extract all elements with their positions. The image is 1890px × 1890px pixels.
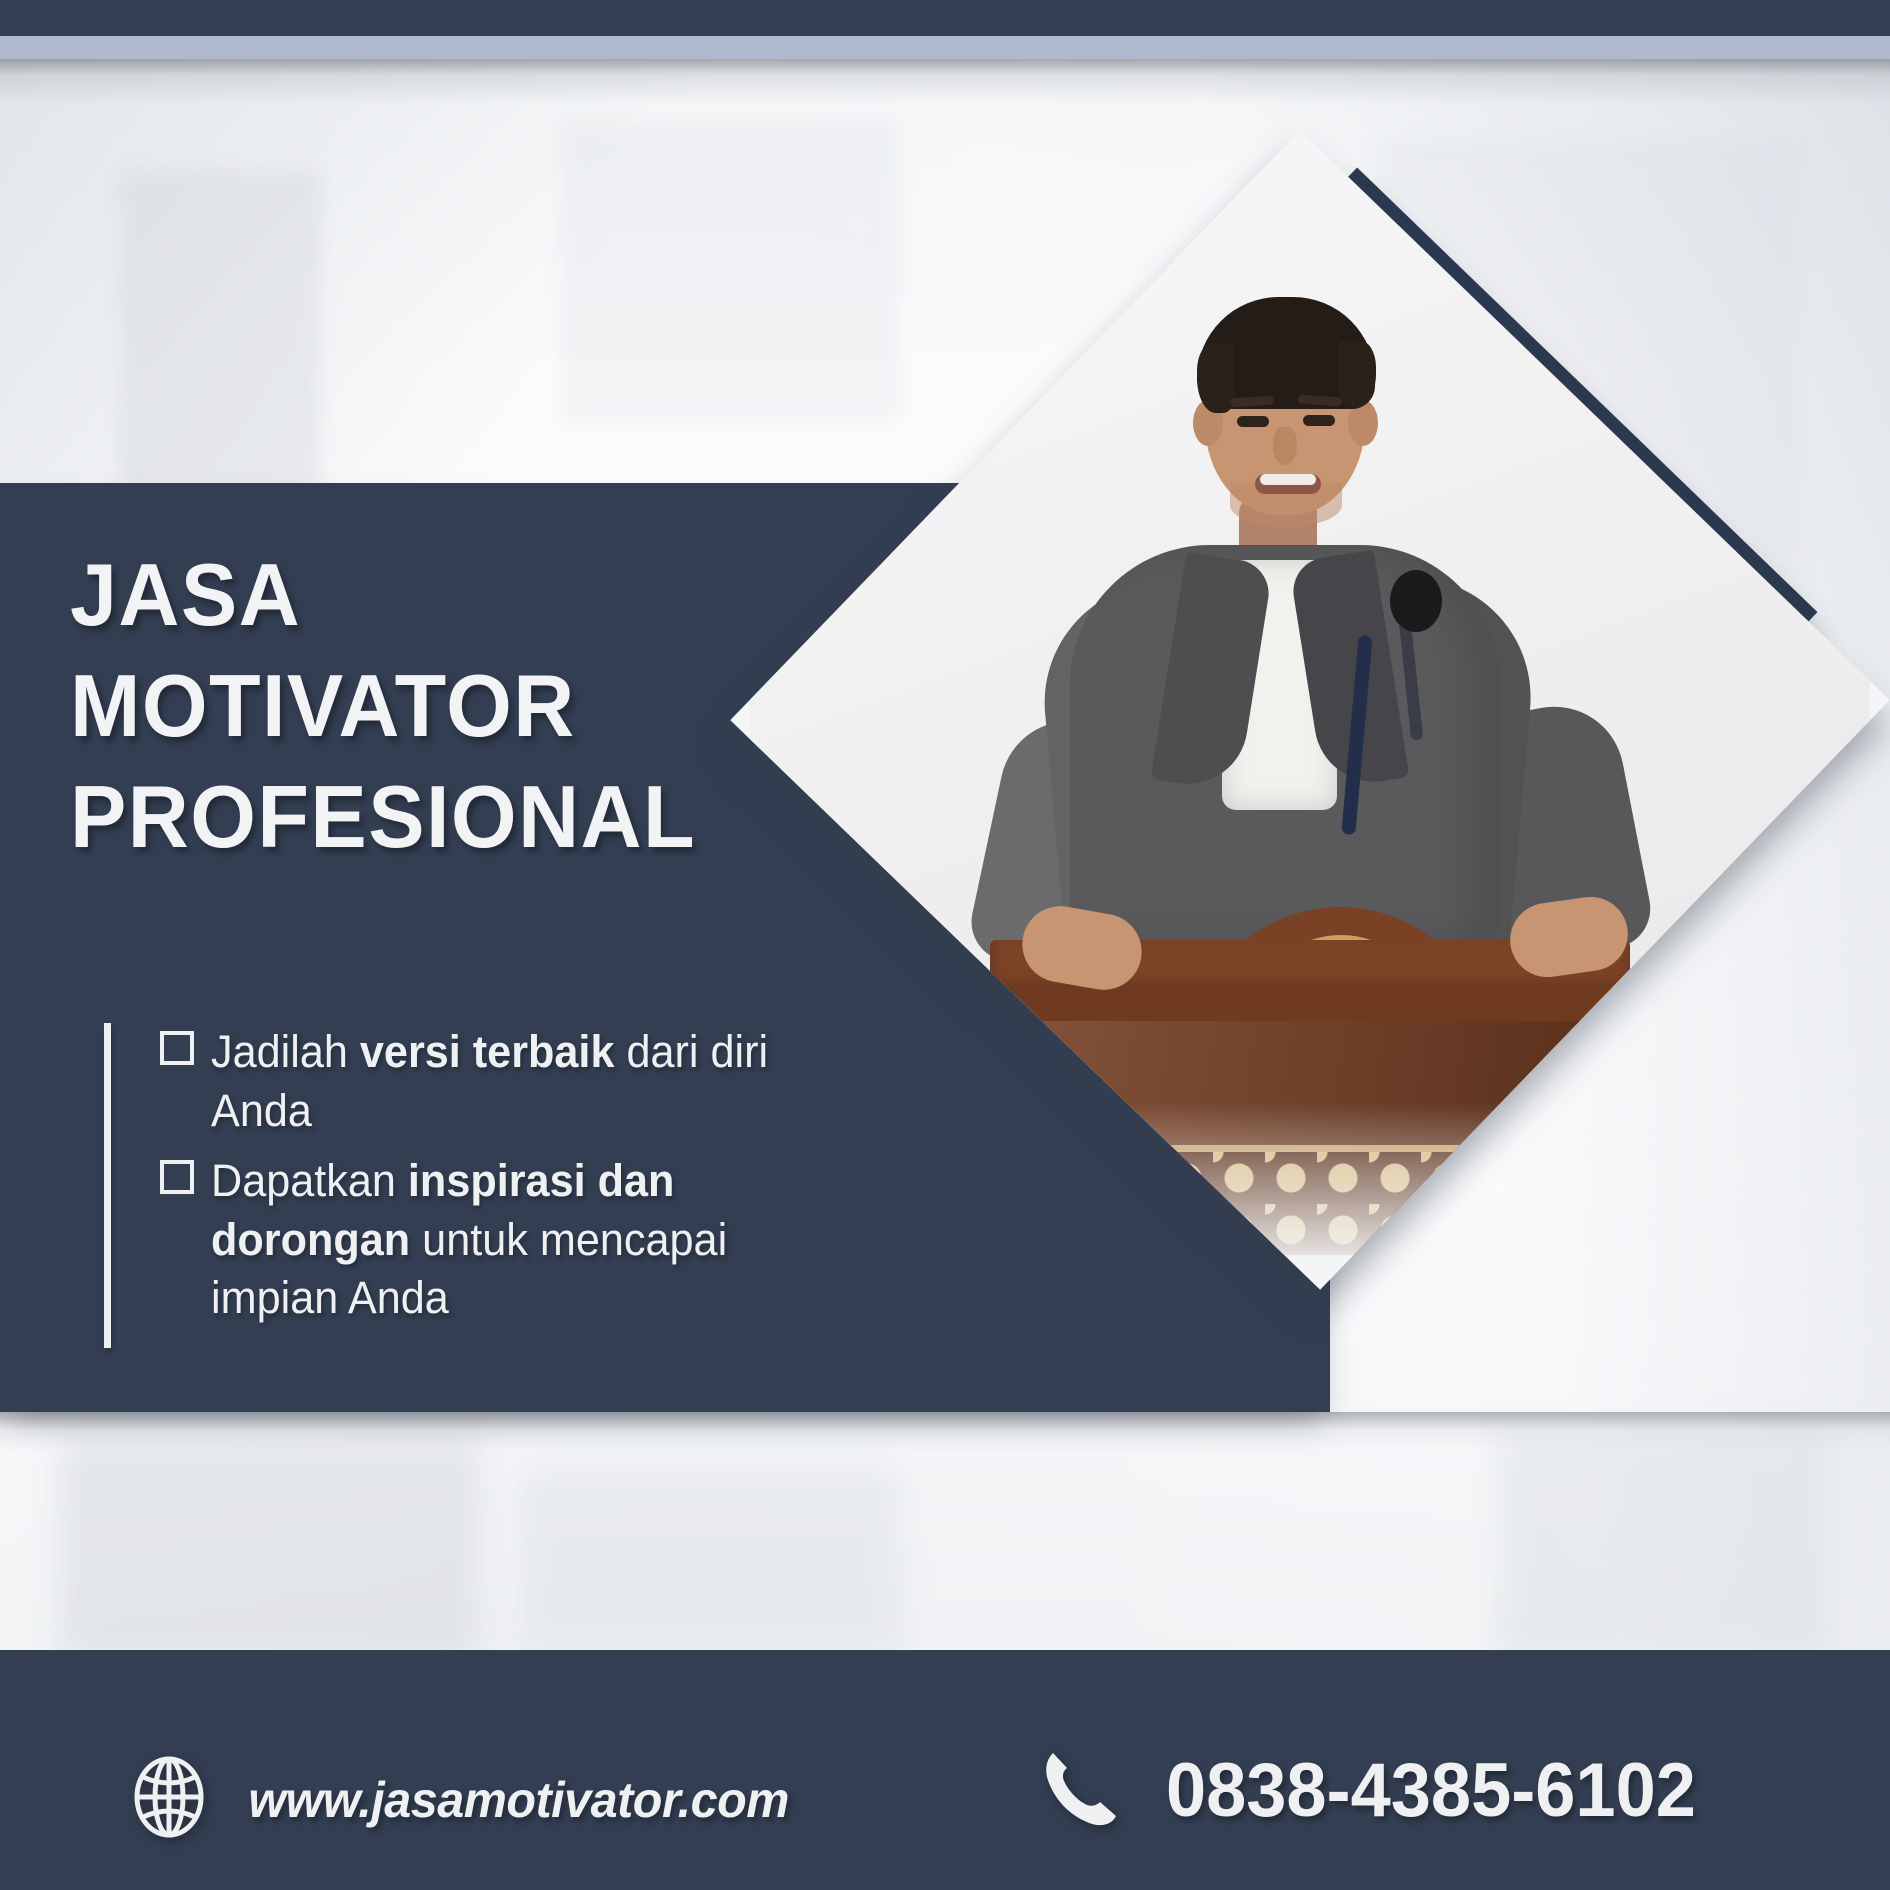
benefit-text-2: Dapatkan inspirasi dan dorongan untuk me… <box>211 1152 831 1328</box>
benefit-1-part-a: Jadilah <box>211 1026 360 1077</box>
headline-line-1: JASA <box>70 540 953 651</box>
flyer-canvas: JASA MOTIVATOR PROFESIONAL Jadilah versi… <box>0 0 1890 1890</box>
background-soft-blur <box>1500 1430 1830 1660</box>
top-band-shadow <box>0 59 1890 105</box>
benefits-list: Jadilah versi terbaik dari diri Anda Dap… <box>104 1023 857 1348</box>
benefit-2-part-a: Dapatkan <box>211 1155 408 1206</box>
phone-text: 0838-4385-6102 <box>1166 1747 1696 1834</box>
website-text: www.jasamotivator.com <box>248 1771 789 1829</box>
background-soft-blur <box>520 1470 900 1650</box>
checkbox-empty-icon <box>157 1157 197 1197</box>
benefit-items: Jadilah versi terbaik dari diri Anda Dap… <box>157 1023 857 1348</box>
website-contact[interactable]: www.jasamotivator.com <box>132 1755 797 1844</box>
globe-icon <box>132 1755 206 1844</box>
vertical-accent-rule <box>104 1023 111 1348</box>
benefit-text-1: Jadilah versi terbaik dari diri Anda <box>211 1023 831 1140</box>
top-light-band <box>0 36 1890 59</box>
page-title: JASA MOTIVATOR PROFESIONAL <box>70 540 990 873</box>
phone-contact[interactable]: 0838-4385-6102 <box>1040 1745 1710 1836</box>
main-panel-shadow <box>0 1412 1890 1452</box>
checkbox-empty-icon <box>157 1028 197 1068</box>
list-item: Jadilah versi terbaik dari diri Anda <box>157 1023 857 1140</box>
headline-line-2: MOTIVATOR <box>70 651 953 762</box>
list-item: Dapatkan inspirasi dan dorongan untuk me… <box>157 1152 857 1328</box>
benefit-1-part-b: versi terbaik <box>360 1026 615 1077</box>
top-dark-band <box>0 0 1890 36</box>
headline-line-3: PROFESIONAL <box>70 762 953 873</box>
background-streak <box>560 120 900 420</box>
phone-icon <box>1040 1745 1118 1836</box>
background-soft-blur <box>60 1440 480 1660</box>
